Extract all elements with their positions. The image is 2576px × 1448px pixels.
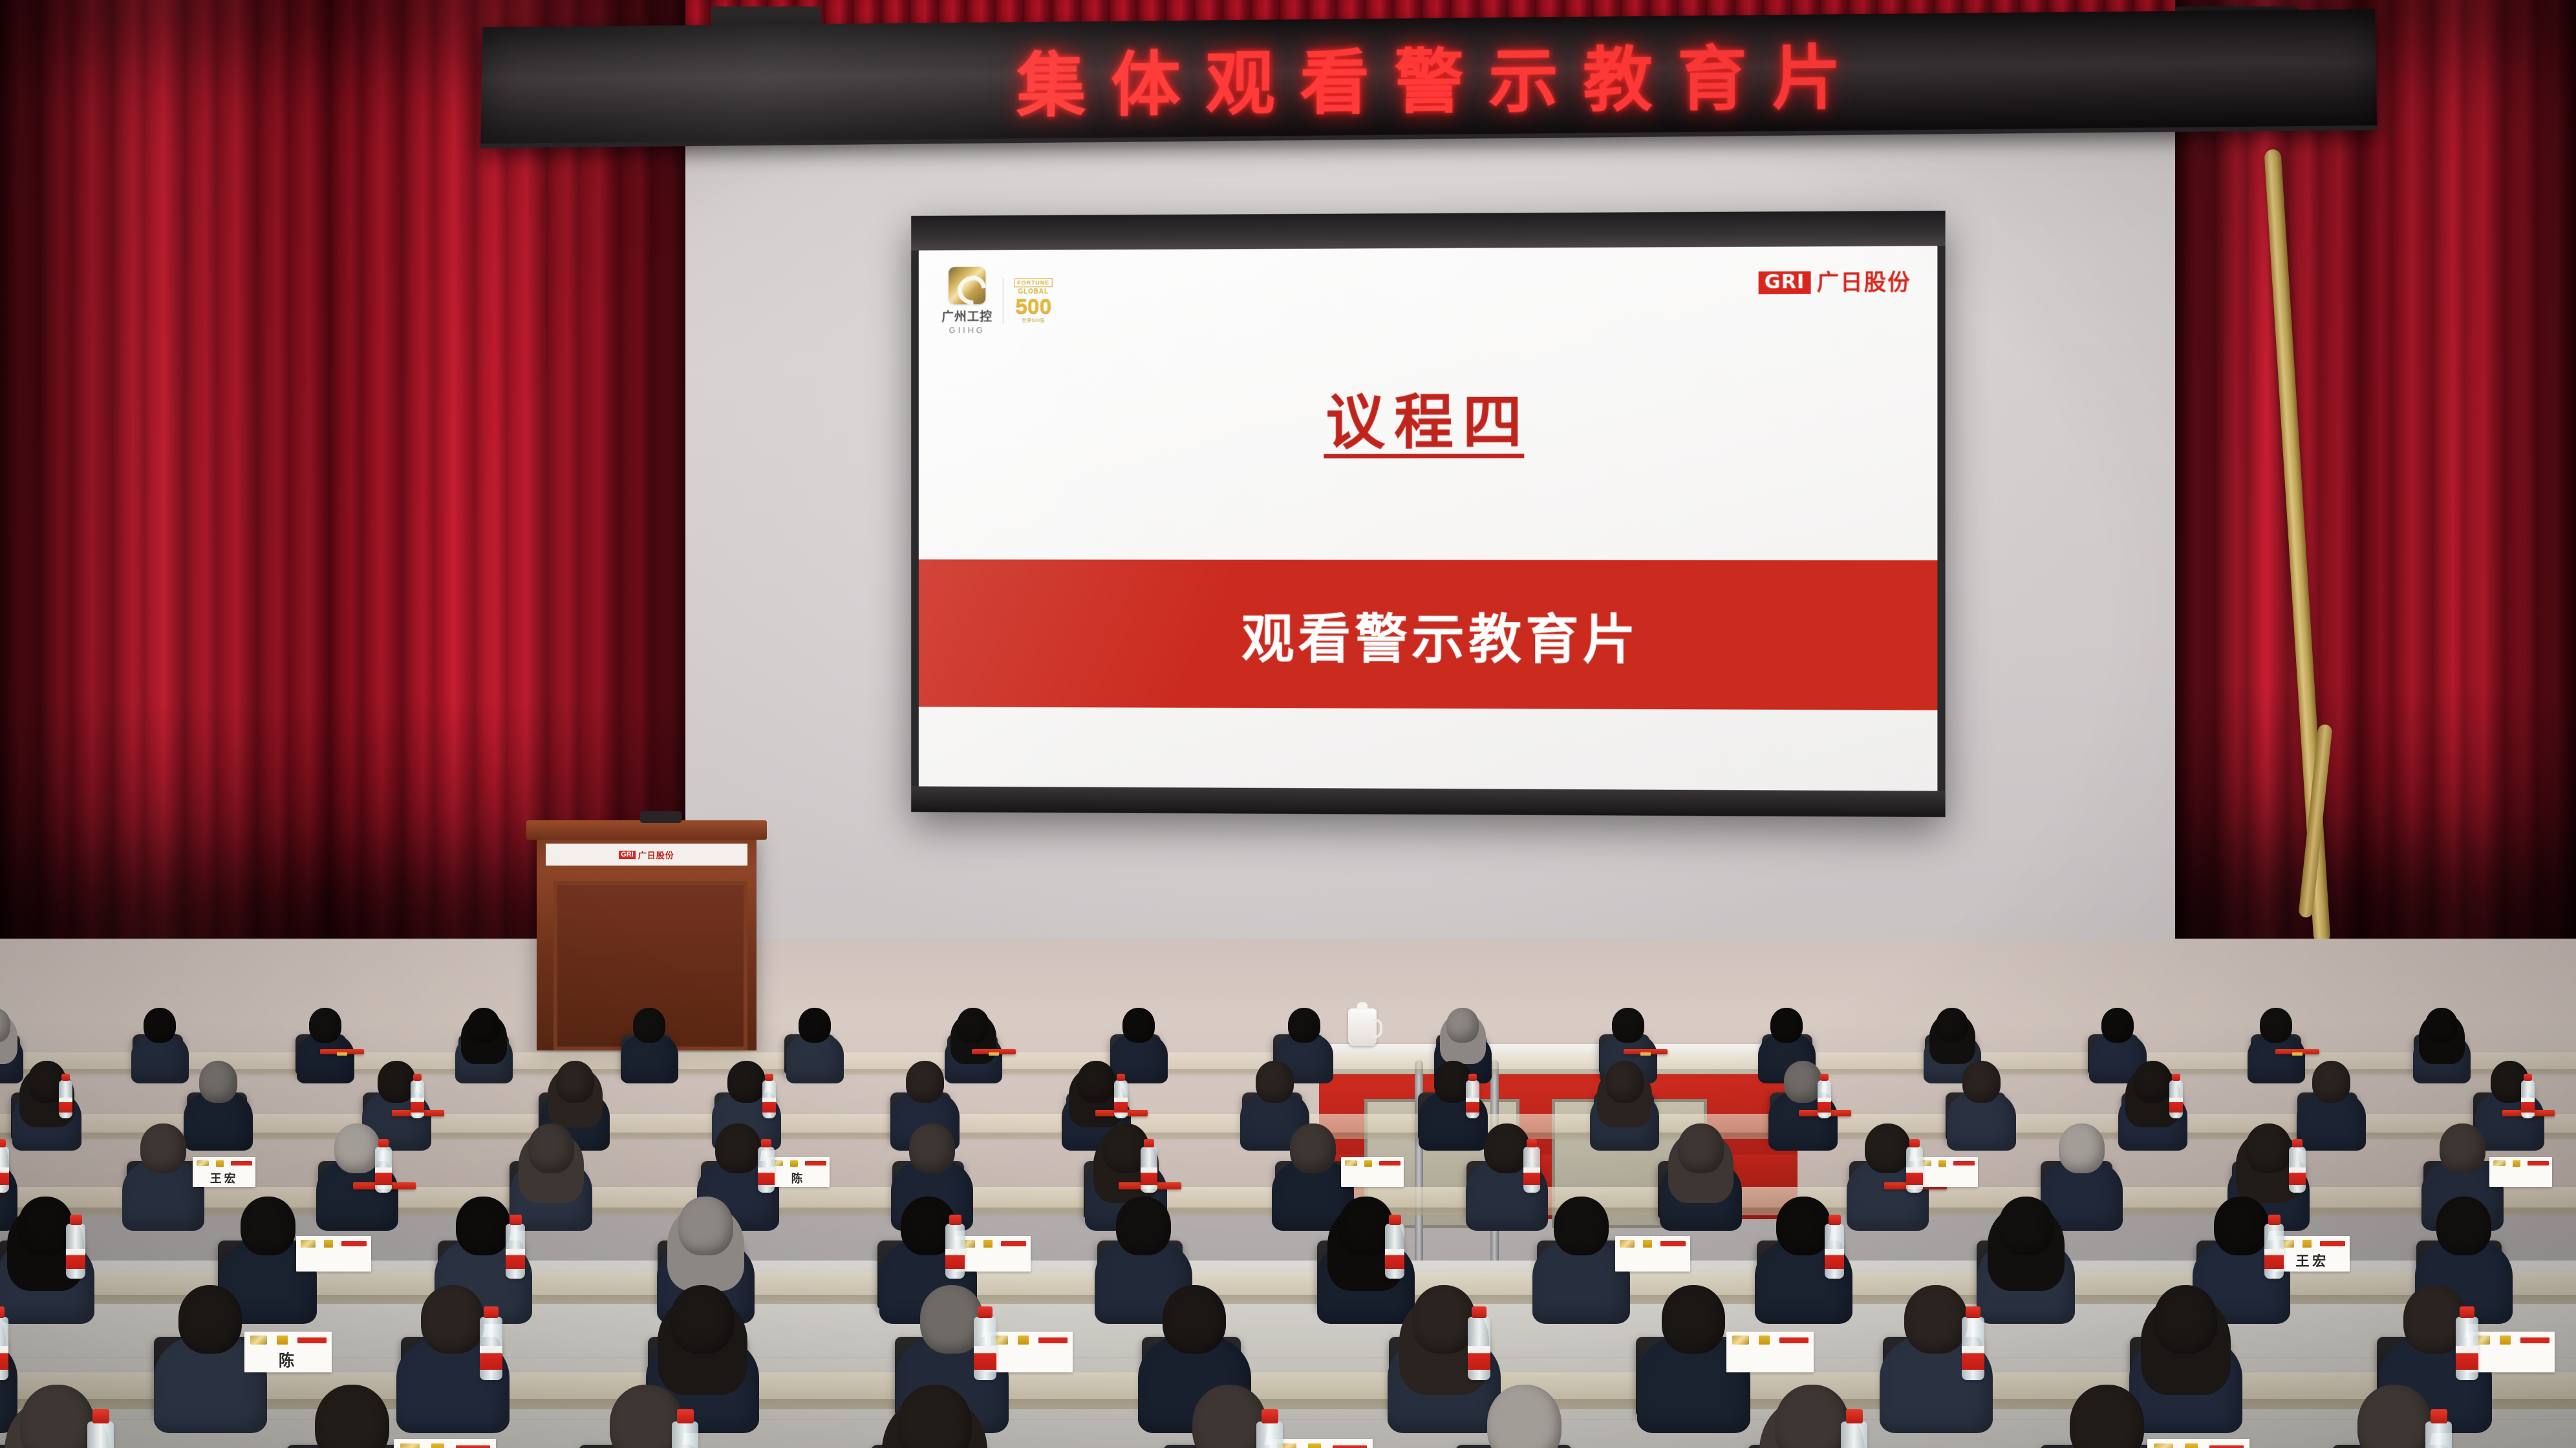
audience-member-head <box>2436 1197 2491 1256</box>
bottle-label <box>1523 1167 1540 1185</box>
audience-member-head <box>1962 1061 2001 1102</box>
bottle-label <box>758 1167 774 1185</box>
name-card-logos <box>197 1160 252 1167</box>
place-name-card: 陈 <box>767 1157 830 1187</box>
bottle-cap <box>1846 1409 1863 1423</box>
audience-member-head <box>315 1385 389 1448</box>
bottle-label <box>1466 1098 1479 1112</box>
audience-member-head <box>909 1123 955 1173</box>
water-bottle <box>2521 1080 2535 1119</box>
fortune-badge-number: 500 <box>1015 297 1051 316</box>
audience-member-head <box>1770 1008 1803 1043</box>
audience-member-head <box>727 1061 766 1102</box>
bottle-label <box>1114 1098 1128 1112</box>
place-name-card <box>956 1236 1031 1272</box>
audience-member-head <box>140 1123 186 1173</box>
bottle-label <box>2521 1098 2535 1112</box>
bottle-cap <box>1909 1139 1920 1147</box>
name-card-logos <box>2279 1239 2345 1248</box>
giihg-logo-icon <box>250 1336 267 1344</box>
fortune-badge-line1: FORTUNE <box>1014 278 1053 287</box>
audience-member-head <box>1446 1008 1479 1043</box>
audience-member <box>2052 1370 2161 1448</box>
bottle-cap <box>0 1139 6 1147</box>
name-card-logos <box>1345 1160 1401 1167</box>
bottle-label <box>762 1098 776 1112</box>
bottle-label <box>375 1167 391 1185</box>
place-name-card <box>1726 1332 1814 1372</box>
audience-member-head <box>1662 1285 1725 1354</box>
audience-member-head <box>334 1123 380 1173</box>
led-banner-text: 集体观看警示教育片 <box>480 17 2377 136</box>
gri-logo-mark: GRI <box>1759 271 1811 295</box>
audience-member-head <box>1412 1285 1476 1354</box>
slide-agenda-label: 议程四 <box>919 373 1937 461</box>
bottle-cap <box>949 1215 961 1225</box>
audience-member-head <box>906 1061 945 1102</box>
audience-member <box>136 1002 184 1072</box>
podium-plate-mark: GRI <box>619 851 636 859</box>
red-document-folder <box>2275 1049 2319 1054</box>
bottle-cap <box>61 1074 70 1081</box>
bottle-cap <box>2172 1074 2181 1081</box>
slide-agenda-underline <box>1324 454 1524 458</box>
audience-member-head <box>1163 1285 1226 1354</box>
audience-member-head <box>2246 1123 2292 1173</box>
fortune-badge-icon <box>1308 1443 1321 1448</box>
audience-member-head <box>456 1197 510 1256</box>
podium-microphone-icon <box>640 811 682 823</box>
place-name-card <box>1615 1236 1690 1272</box>
audience-member-head <box>2214 1197 2268 1256</box>
place-name-card: 王宏 <box>2275 1236 2350 1272</box>
place-name-card <box>1915 1157 1979 1187</box>
giihg-logo-icon <box>301 1240 315 1247</box>
podium-top-ledge <box>526 820 767 840</box>
audience-member-head <box>1865 1123 1911 1173</box>
place-name-card <box>1341 1157 1404 1187</box>
bottle-cap <box>1144 1139 1154 1147</box>
water-bottle <box>1906 1147 1922 1193</box>
gri-logo-icon <box>1779 1337 1809 1343</box>
red-document-folder <box>320 1049 364 1054</box>
audience-member-head <box>1776 1197 1830 1256</box>
giihg-logo-icon <box>2154 1443 2174 1448</box>
bottle-cap <box>1472 1306 1486 1318</box>
stage-curtain-right <box>2175 0 2576 957</box>
audience-member-head <box>1678 1123 1724 1173</box>
audience-member <box>1986 1186 2066 1306</box>
audience-member-head <box>2070 1385 2144 1448</box>
audience-member <box>1648 1273 1740 1412</box>
water-bottle <box>2289 1147 2305 1193</box>
fortune-badge-icon <box>1643 1240 1652 1248</box>
screen-top-bar <box>911 211 1945 251</box>
audience-member-head <box>1288 1008 1320 1043</box>
audience-member-head <box>2101 1008 2134 1043</box>
bottle-label <box>0 1167 9 1185</box>
bottle-cap <box>2292 1139 2302 1147</box>
audience-member <box>302 1002 349 1072</box>
fortune-badge-icon <box>2302 1240 2312 1248</box>
water-bottle <box>1841 1421 1867 1448</box>
audience-member <box>950 1002 997 1072</box>
audience-member <box>190 1054 246 1138</box>
water-bottle <box>1256 1421 1283 1448</box>
place-name-card <box>2489 1157 2553 1187</box>
gri-logo-icon <box>1660 1241 1686 1246</box>
bottle-label <box>1818 1098 1831 1112</box>
audience-member <box>2418 1002 2465 1072</box>
audience-member-head <box>1122 1008 1155 1043</box>
place-name-card: 王宏 <box>193 1157 256 1187</box>
bottle-cap <box>1829 1215 1841 1225</box>
bottle-cap <box>2460 1306 2474 1318</box>
name-card-logos <box>250 1335 327 1345</box>
audience-member <box>1470 1370 1578 1448</box>
gri-logo-icon <box>1001 1241 1026 1246</box>
audience-member-head <box>799 1008 831 1043</box>
giihg-logo-cn: 广州工控 <box>941 307 993 325</box>
giihg-logo-en: GIIHG <box>949 325 985 335</box>
name-card-logos <box>960 1239 1026 1248</box>
bottle-cap <box>677 1409 694 1423</box>
name-card-name: 陈 <box>244 1348 332 1371</box>
audience-member-head <box>1936 1008 1968 1043</box>
fortune-badge-cn: 世界500强 <box>1022 317 1045 323</box>
audience-member-head <box>715 1123 761 1173</box>
fortune-badge-icon <box>1018 1336 1029 1345</box>
audience-member-head <box>671 1285 734 1354</box>
water-bottle <box>66 1224 85 1278</box>
gri-logo-icon <box>297 1337 327 1343</box>
place-name-card <box>2147 1439 2249 1448</box>
bottle-label <box>1141 1167 1157 1185</box>
audience-member-head <box>1290 1123 1336 1173</box>
bottle-label <box>411 1098 424 1112</box>
name-card-logos <box>1732 1335 1809 1345</box>
audience-member-head <box>309 1008 341 1043</box>
bottle-cap <box>484 1306 498 1318</box>
name-card-logos <box>1919 1160 1975 1167</box>
audience-member-head <box>421 1285 484 1354</box>
audience-member-head <box>528 1123 574 1173</box>
conference-hall-photo: 集体观看警示教育片 广州工控 GIIHG FORTUNE GLOBAL 500 … <box>0 0 2576 1448</box>
audience-member <box>297 1370 406 1448</box>
bottle-label <box>506 1249 525 1270</box>
name-card-logos <box>2473 1335 2550 1345</box>
water-bottle <box>506 1224 525 1278</box>
bottle-label <box>480 1346 502 1370</box>
fortune-badge-icon <box>983 1240 993 1248</box>
bottle-cap <box>0 1306 5 1318</box>
fortune-badge-icon <box>790 1160 798 1167</box>
gri-logo-icon <box>341 1241 367 1246</box>
bottle-label <box>1825 1249 1844 1270</box>
audience-member <box>518 1115 585 1215</box>
bottle-label <box>2169 1098 2183 1112</box>
giihg-logo: 广州工控 GIIHG <box>941 267 993 335</box>
audience-member <box>130 1115 197 1215</box>
audience-member-head <box>2154 1285 2217 1354</box>
bottle-label <box>1468 1346 1490 1370</box>
audience-member-head <box>2312 1061 2351 1102</box>
fortune-badge-icon <box>2185 1443 2198 1448</box>
projection-screen: 广州工控 GIIHG FORTUNE GLOBAL 500 世界500强 GRI… <box>911 211 1945 817</box>
audience-member-head <box>1999 1197 2053 1256</box>
podium-plate-cn: 广日股份 <box>638 849 674 861</box>
slide-logo-group-left: 广州工控 GIIHG FORTUNE GLOBAL 500 世界500强 <box>941 266 1053 335</box>
bottle-label <box>974 1346 996 1370</box>
water-bottle <box>0 1317 8 1380</box>
fortune-badge-icon <box>216 1160 224 1167</box>
logo-divider <box>1003 278 1004 325</box>
giihg-logo-icon <box>197 1160 209 1167</box>
bottle-label <box>59 1098 72 1112</box>
water-bottle <box>411 1080 424 1119</box>
audience-member-head <box>2260 1008 2292 1043</box>
water-bottle <box>1962 1317 1984 1380</box>
gri-logo-icon <box>2520 1337 2549 1343</box>
water-bottle <box>480 1317 502 1380</box>
water-bottle <box>1825 1224 1844 1278</box>
gri-logo-icon <box>805 1161 826 1166</box>
water-bottle <box>2264 1224 2284 1278</box>
audience-member <box>0 1002 18 1072</box>
bottle-cap <box>413 1074 422 1081</box>
giihg-logo-icon <box>400 1443 420 1448</box>
led-banner: 集体观看警示教育片 <box>480 9 2377 148</box>
bottle-cap <box>378 1139 389 1147</box>
audience-member <box>460 1002 508 1072</box>
audience-member-head <box>144 1008 176 1043</box>
giihg-logo-icon <box>1620 1240 1634 1247</box>
water-bottle <box>375 1147 391 1193</box>
audience-member <box>626 1002 673 1072</box>
audience-member <box>1953 1054 2010 1138</box>
fortune-badge-icon <box>2513 1160 2520 1167</box>
audience-member <box>1668 1115 1735 1215</box>
name-card-logos <box>991 1335 1068 1345</box>
bottle-cap <box>765 1074 774 1081</box>
gri-logo-icon <box>2320 1241 2345 1246</box>
bottle-cap <box>1820 1074 1829 1081</box>
audience-member-head <box>1077 1061 1116 1102</box>
fortune-badge-icon <box>431 1443 444 1448</box>
bottle-cap <box>2268 1215 2281 1225</box>
water-bottle <box>87 1421 114 1448</box>
place-name-card <box>394 1439 496 1448</box>
audience-member-head <box>2059 1123 2105 1173</box>
bottle-cap <box>1261 1409 1278 1423</box>
fortune-global-500-badge: FORTUNE GLOBAL 500 世界500强 <box>1014 278 1053 324</box>
audience-member-head <box>2134 1061 2173 1102</box>
audience-member-head <box>2425 1008 2458 1043</box>
bottle-label <box>1385 1249 1404 1270</box>
audience-member <box>2253 1002 2300 1072</box>
audience-member <box>1541 1186 1621 1306</box>
gri-logo-icon <box>231 1161 252 1166</box>
name-card-logos <box>1277 1443 1367 1448</box>
red-document-folder <box>972 1049 1016 1054</box>
audience-member <box>164 1273 257 1412</box>
name-card-logos <box>771 1160 826 1167</box>
gri-logo-icon <box>1038 1337 1068 1343</box>
fortune-badge-icon <box>324 1240 333 1248</box>
gri-logo-icon <box>1333 1445 1367 1448</box>
place-name-card <box>296 1236 371 1272</box>
bottle-cap <box>510 1215 522 1225</box>
name-card-logos <box>2154 1443 2244 1448</box>
water-bottle <box>1385 1224 1404 1278</box>
gri-logo: GRI 广日股份 <box>1759 271 1911 294</box>
slide-headline: 观看警示教育片 <box>919 595 1937 674</box>
gri-logo-icon <box>2209 1445 2244 1448</box>
fortune-badge-icon <box>1938 1160 1946 1167</box>
audience-member <box>2303 1054 2359 1138</box>
gri-logo-cn: 广日股份 <box>1817 271 1911 293</box>
bottle-label <box>0 1346 8 1370</box>
place-name-card <box>2467 1332 2555 1372</box>
water-bottle <box>974 1317 996 1380</box>
bottle-cap <box>2524 1074 2533 1081</box>
audience-member-head <box>1192 1385 1267 1448</box>
water-bottle <box>1141 1147 1157 1193</box>
water-bottle <box>1818 1080 1831 1119</box>
name-card-logos <box>1620 1239 1686 1248</box>
bottle-cap <box>1527 1139 1537 1147</box>
name-card-logos <box>2493 1160 2549 1167</box>
audience-member-head <box>633 1008 665 1043</box>
audience-member-head <box>1487 1385 1562 1448</box>
giihg-logo-icon <box>2493 1160 2506 1167</box>
red-document-folder <box>1624 1049 1668 1054</box>
water-bottle <box>2169 1080 2183 1119</box>
name-card-logos <box>400 1443 490 1448</box>
audience-member <box>791 1002 839 1072</box>
audience-member-head <box>1116 1197 1170 1256</box>
water-bottle <box>1523 1147 1540 1193</box>
audience-member-head <box>957 1008 989 1043</box>
bottle-cap <box>978 1306 992 1318</box>
name-card-logos <box>301 1239 367 1248</box>
audience-member-head <box>2357 1385 2432 1448</box>
fortune-badge-icon <box>1364 1160 1372 1167</box>
bottle-label <box>1962 1346 1984 1370</box>
audience-member-head <box>1612 1008 1644 1043</box>
audience-member-head <box>1775 1385 1849 1448</box>
giihg-logo-icon <box>1345 1160 1357 1167</box>
water-bottle <box>59 1080 72 1119</box>
water-bottle <box>672 1421 698 1448</box>
water-bottle <box>1466 1080 1479 1119</box>
audience-member-head <box>1554 1197 1608 1256</box>
bottle-cap <box>1117 1074 1126 1081</box>
audience-member-head <box>897 1385 972 1448</box>
gri-logo-icon <box>456 1445 490 1448</box>
bottle-cap <box>1468 1074 1477 1081</box>
bottle-label <box>66 1249 85 1270</box>
giihg-g-mark-icon <box>949 267 985 304</box>
place-name-card <box>1271 1439 1373 1448</box>
bottle-label <box>2289 1167 2305 1185</box>
gri-logo-icon <box>2528 1161 2549 1166</box>
fortune-badge-icon <box>277 1336 288 1345</box>
audience-member-head <box>178 1285 242 1354</box>
audience-seating: 王宏陈王宏陈 <box>0 892 2576 1448</box>
presentation-slide: 广州工控 GIIHG FORTUNE GLOBAL 500 世界500强 GRI… <box>919 246 1937 791</box>
bottle-cap <box>70 1215 82 1225</box>
water-bottle <box>758 1147 774 1193</box>
bottle-label <box>945 1249 965 1270</box>
audience-member-head <box>20 1385 94 1448</box>
audience-member-head <box>199 1061 238 1102</box>
audience-member-head <box>18 1197 72 1256</box>
slide-red-band: 观看警示教育片 <box>919 559 1937 710</box>
bottle-cap <box>2431 1409 2447 1423</box>
bottle-label <box>1906 1167 1922 1185</box>
audience-member <box>880 1370 989 1448</box>
audience-member-head <box>1784 1061 1823 1102</box>
audience-member <box>1596 1054 1653 1138</box>
audience-member-head <box>2440 1123 2485 1173</box>
gri-logo-icon <box>1953 1161 1975 1166</box>
giihg-logo-icon <box>1732 1336 1749 1344</box>
bottle-cap <box>761 1139 771 1147</box>
bottle-cap <box>1389 1215 1401 1225</box>
water-bottle <box>2456 1317 2478 1380</box>
audience-member-head <box>678 1197 733 1256</box>
name-card-name: 王宏 <box>193 1169 256 1186</box>
gri-logo-icon <box>1379 1161 1401 1166</box>
water-bottle <box>2425 1421 2452 1448</box>
water-bottle <box>945 1224 965 1278</box>
name-card-name: 陈 <box>767 1169 830 1186</box>
bottle-label <box>2264 1249 2284 1270</box>
bottle-cap <box>92 1409 109 1423</box>
audience-member-head <box>1605 1061 1644 1102</box>
bottle-label <box>2456 1346 2478 1370</box>
fortune-badge-icon <box>1759 1336 1770 1345</box>
audience-member-head <box>467 1008 500 1043</box>
podium-logo-plate: GRI 广日股份 <box>546 844 747 866</box>
name-card-name: 王宏 <box>2275 1251 2350 1270</box>
bottle-cap <box>1966 1306 1980 1318</box>
audience-member-head <box>1256 1061 1294 1102</box>
water-bottle <box>1468 1317 1490 1380</box>
fortune-badge-icon <box>2500 1336 2511 1345</box>
place-name-card <box>985 1332 1073 1372</box>
water-bottle <box>762 1080 776 1119</box>
place-name-card: 陈 <box>244 1332 332 1372</box>
water-bottle <box>0 1147 9 1193</box>
audience-member-head <box>556 1061 595 1102</box>
audience-member-head <box>1904 1285 1968 1354</box>
water-bottle <box>1114 1080 1128 1119</box>
screen-bottom-bar <box>911 786 1945 817</box>
audience-member-head <box>241 1197 295 1256</box>
